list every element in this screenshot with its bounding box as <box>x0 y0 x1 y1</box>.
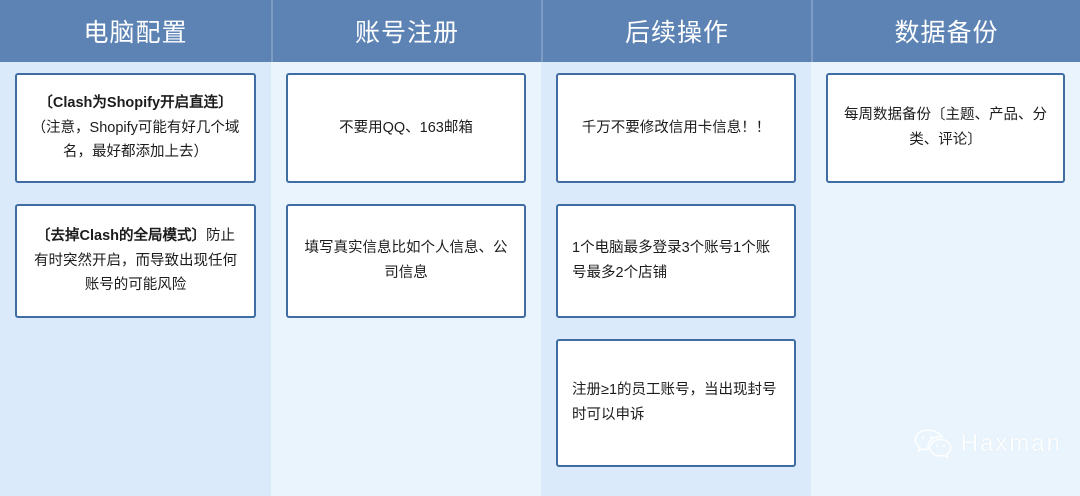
card-1-2-text: 〔去掉Clash的全局模式〕防止有时突然开启，而导致出现任何账号的可能风险 <box>31 224 240 299</box>
card-1-2-bold: 〔去掉Clash的全局模式〕 <box>36 228 206 244</box>
card-2-1-text: 不要用QQ、163邮箱 <box>302 116 510 141</box>
column-body-4: 每周数据备份〔主题、产品、分类、评论〕 <box>811 62 1080 496</box>
card-4-1-text: 每周数据备份〔主题、产品、分类、评论〕 <box>842 103 1049 153</box>
card-2-2[interactable]: 填写真实信息比如个人信息、公司信息 <box>286 204 526 318</box>
column-body-3: 千万不要修改信用卡信息！！ 1个电脑最多登录3个账号1个账号最多2个店铺 注册≥… <box>541 62 811 496</box>
card-3-1-text: 千万不要修改信用卡信息！！ <box>572 116 780 141</box>
flowchart-board: 电脑配置 〔Clash为Shopify开启直连〕（注意，Shopify可能有好几… <box>0 0 1080 496</box>
column-body-1: 〔Clash为Shopify开启直连〕（注意，Shopify可能有好几个域名，最… <box>0 62 271 496</box>
card-1-1-text: 〔Clash为Shopify开启直连〕（注意，Shopify可能有好几个域名，最… <box>31 91 240 166</box>
card-1-1[interactable]: 〔Clash为Shopify开启直连〕（注意，Shopify可能有好几个域名，最… <box>15 73 256 183</box>
card-4-1[interactable]: 每周数据备份〔主题、产品、分类、评论〕 <box>826 73 1065 183</box>
column-header-4: 数据备份 <box>811 0 1080 62</box>
card-3-2[interactable]: 1个电脑最多登录3个账号1个账号最多2个店铺 <box>556 204 796 318</box>
card-1-1-bold: 〔Clash为Shopify开启直连〕 <box>38 95 232 111</box>
card-1-1-body: （注意，Shopify可能有好几个域名，最好都添加上去） <box>32 120 240 161</box>
card-3-1[interactable]: 千万不要修改信用卡信息！！ <box>556 73 796 183</box>
column-header-2: 账号注册 <box>271 0 541 62</box>
card-2-2-text: 填写真实信息比如个人信息、公司信息 <box>302 236 510 286</box>
column-header-3: 后续操作 <box>541 0 811 62</box>
column-follow-up-operations: 后续操作 千万不要修改信用卡信息！！ 1个电脑最多登录3个账号1个账号最多2个店… <box>541 0 811 496</box>
column-account-registration: 账号注册 不要用QQ、163邮箱 填写真实信息比如个人信息、公司信息 <box>271 0 541 496</box>
card-3-2-text: 1个电脑最多登录3个账号1个账号最多2个店铺 <box>572 236 780 286</box>
column-data-backup: 数据备份 每周数据备份〔主题、产品、分类、评论〕 <box>811 0 1080 496</box>
column-header-1: 电脑配置 <box>0 0 271 62</box>
card-2-1[interactable]: 不要用QQ、163邮箱 <box>286 73 526 183</box>
card-1-2[interactable]: 〔去掉Clash的全局模式〕防止有时突然开启，而导致出现任何账号的可能风险 <box>15 204 256 318</box>
column-computer-config: 电脑配置 〔Clash为Shopify开启直连〕（注意，Shopify可能有好几… <box>0 0 271 496</box>
column-body-2: 不要用QQ、163邮箱 填写真实信息比如个人信息、公司信息 <box>271 62 541 496</box>
card-3-3[interactable]: 注册≥1的员工账号，当出现封号时可以申诉 <box>556 339 796 467</box>
card-3-3-text: 注册≥1的员工账号，当出现封号时可以申诉 <box>572 378 780 428</box>
